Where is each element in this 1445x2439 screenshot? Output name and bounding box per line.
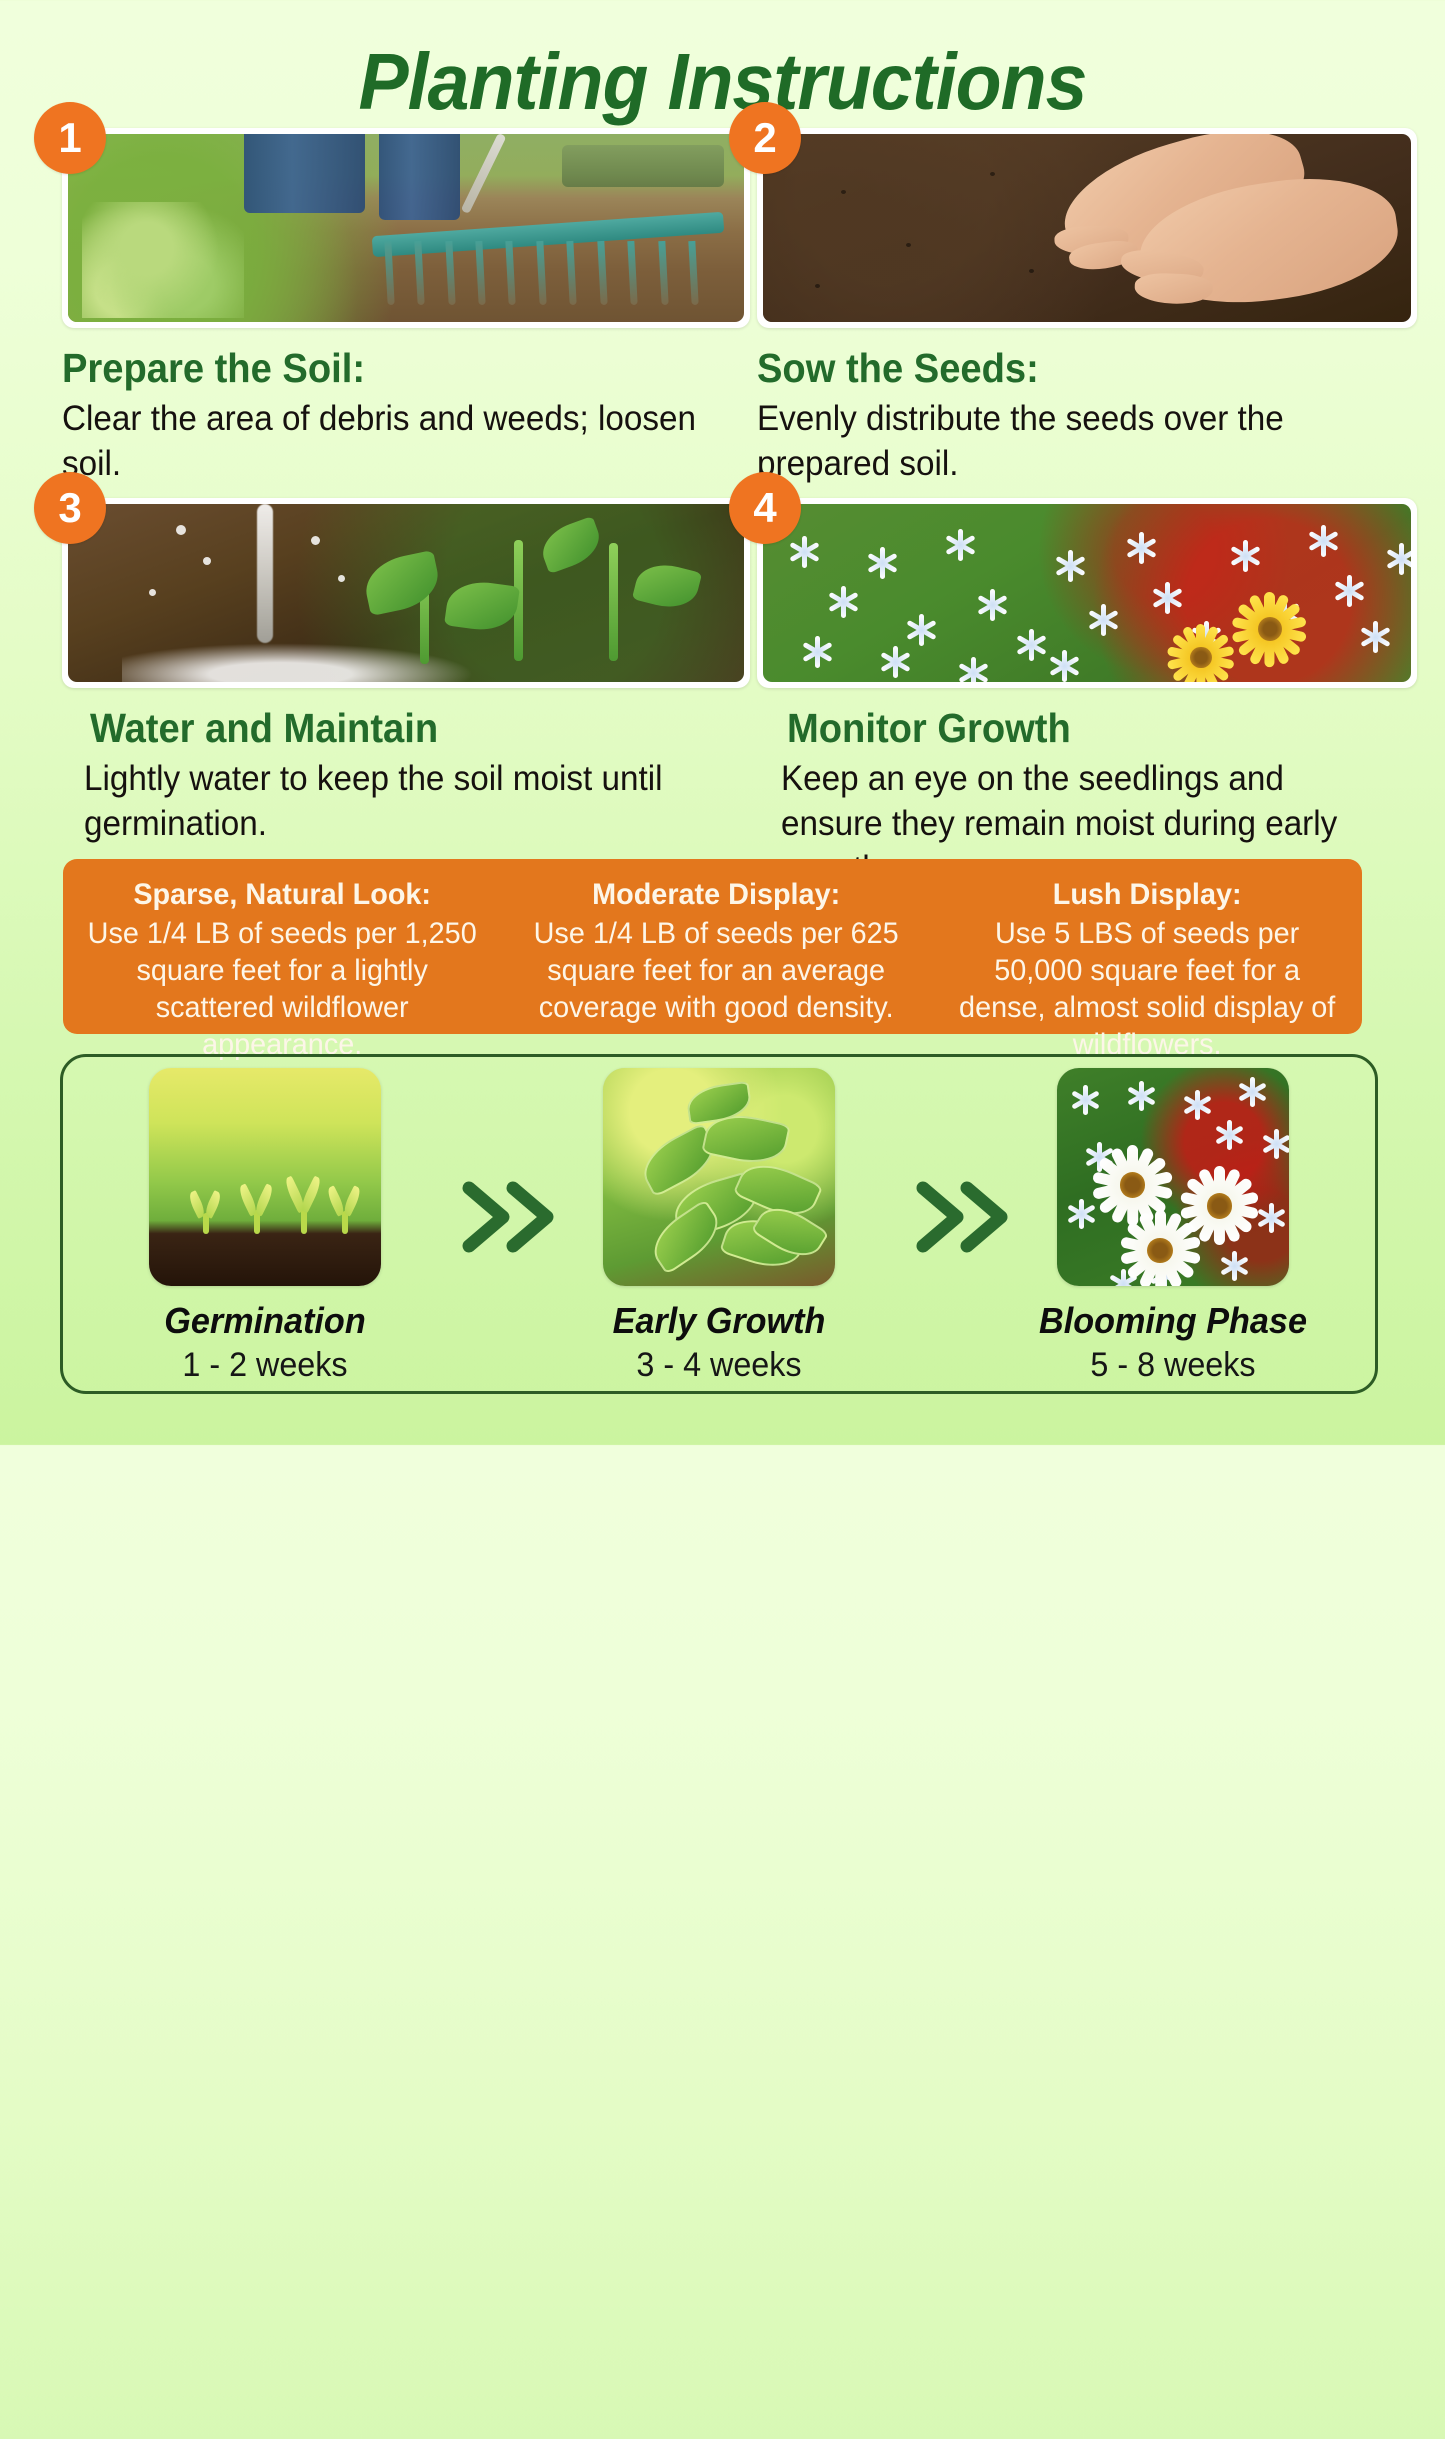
timeline-label-germination: Germination	[123, 1300, 408, 1342]
double-chevron-right-icon-2	[909, 1172, 1019, 1262]
step-number-badge-2: 2	[729, 102, 801, 174]
coverage-text-lush: Use 5 LBS of seeds per 50,000 square fee…	[954, 915, 1340, 1063]
page-title: Planting Instructions	[43, 36, 1401, 128]
seed-coverage-banner: Sparse, Natural Look: Use 1/4 LB of seed…	[63, 859, 1362, 1034]
step-card-1: 1	[62, 128, 750, 486]
sprouts-thumbnail	[149, 1068, 381, 1286]
coverage-title-moderate: Moderate Display:	[523, 877, 909, 913]
coverage-column-sparse: Sparse, Natural Look: Use 1/4 LB of seed…	[63, 859, 501, 1034]
growth-timeline: Germination 1 - 2 weeks Early Growth 3 -…	[60, 1054, 1382, 2439]
coverage-text-moderate: Use 1/4 LB of seeds per 625 square feet …	[523, 915, 909, 1026]
coverage-column-lush: Lush Display: Use 5 LBS of seeds per 50,…	[932, 859, 1362, 1034]
step-2-heading: Sow the Seeds:	[757, 344, 1371, 392]
step-card-3: 3	[62, 498, 750, 846]
blooming-flowers-thumbnail	[1057, 1068, 1289, 1286]
step-3-heading: Water and Maintain	[90, 704, 704, 752]
step-2-body: Evenly distribute the seeds over the pre…	[757, 396, 1384, 486]
timeline-stage-blooming: Blooming Phase 5 - 8 weeks	[1023, 1068, 1323, 1386]
timeline-label-blooming: Blooming Phase	[1031, 1300, 1316, 1342]
step-number-badge-1: 1	[34, 102, 106, 174]
timeline-duration-blooming: 5 - 8 weeks	[1031, 1344, 1316, 1386]
coverage-column-moderate: Moderate Display: Use 1/4 LB of seeds pe…	[501, 859, 931, 1034]
watering-seedlings-photo	[68, 504, 744, 682]
step-1-body: Clear the area of debris and weeds; loos…	[62, 396, 716, 486]
coverage-title-sparse: Sparse, Natural Look:	[85, 877, 479, 913]
step-3-body: Lightly water to keep the soil moist unt…	[84, 756, 717, 846]
timeline-stage-germination: Germination 1 - 2 weeks	[115, 1068, 415, 1386]
step-card-2: 2	[757, 128, 1417, 486]
timeline-duration-early-growth: 3 - 4 weeks	[577, 1344, 862, 1386]
step-2-photo-frame: 2	[757, 128, 1417, 328]
step-4-heading: Monitor Growth	[787, 704, 1373, 752]
step-number-badge-4: 4	[729, 472, 801, 544]
step-4-photo-frame: 4	[757, 498, 1417, 688]
double-chevron-right-icon	[455, 1172, 565, 1262]
infographic-page: Planting Instructions 1	[0, 0, 1445, 1445]
raking-soil-photo	[68, 134, 744, 322]
wildflower-bed-photo	[763, 504, 1411, 682]
timeline-duration-germination: 1 - 2 weeks	[123, 1344, 408, 1386]
step-3-photo-frame: 3	[62, 498, 750, 688]
step-1-heading: Prepare the Soil:	[62, 344, 702, 392]
hands-patting-soil-photo	[763, 134, 1411, 322]
coverage-text-sparse: Use 1/4 LB of seeds per 1,250 square fee…	[85, 915, 479, 1063]
step-number-badge-3: 3	[34, 472, 106, 544]
leafy-plant-thumbnail	[603, 1068, 835, 1286]
step-card-4: 4 Monitor Growth Keep an eye on the seed…	[757, 498, 1417, 891]
step-1-photo-frame: 1	[62, 128, 750, 328]
timeline-stage-early-growth: Early Growth 3 - 4 weeks	[569, 1068, 869, 1386]
timeline-label-early-growth: Early Growth	[577, 1300, 862, 1342]
coverage-title-lush: Lush Display:	[954, 877, 1340, 913]
